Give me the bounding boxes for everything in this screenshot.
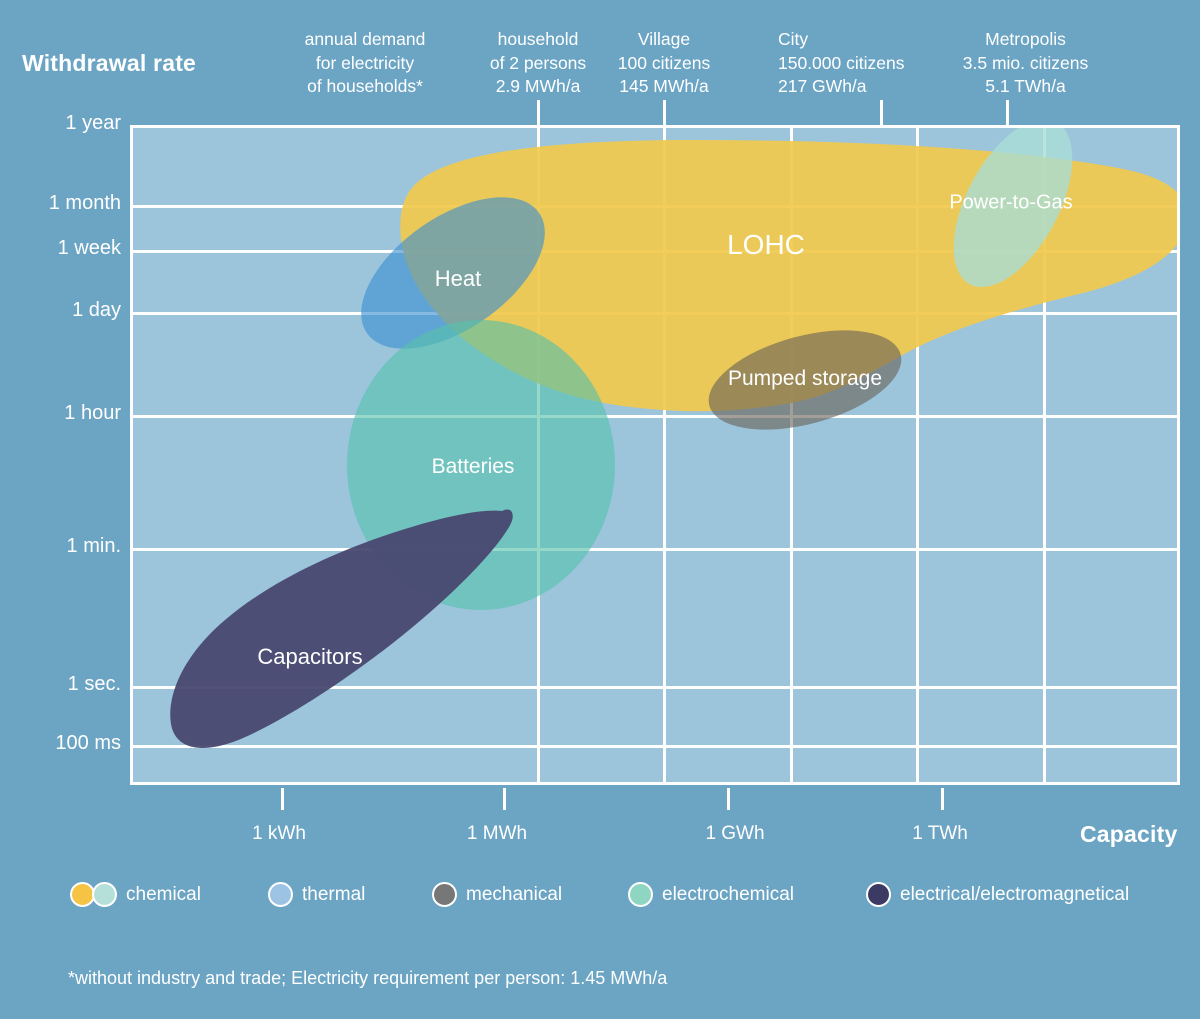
bottom-tick-2 bbox=[727, 788, 730, 810]
legend-label-electrochemical: electrochemical bbox=[662, 884, 794, 906]
demand-header-city: City 150.000 citizens 217 GWh/a bbox=[778, 28, 923, 99]
region-capacitors-shape[interactable] bbox=[170, 509, 512, 748]
legend-swatch-chemical bbox=[70, 882, 117, 907]
legend-label-mechanical: mechanical bbox=[466, 884, 562, 906]
legend-item-electrochemical[interactable]: electrochemical bbox=[628, 882, 794, 907]
chart-root: Withdrawal rate Capacity annual demand f… bbox=[0, 0, 1200, 1019]
demand-header-metropolis: Metropolis 3.5 mio. citizens 5.1 TWh/a bbox=[953, 28, 1098, 99]
x-tick-label-1: 1 MWh bbox=[467, 823, 527, 845]
legend-swatch-electrochemical bbox=[628, 882, 653, 907]
x-tick-label-0: 1 kWh bbox=[252, 823, 306, 845]
legend-item-chemical[interactable]: chemical bbox=[70, 882, 201, 907]
legend-swatch-electrical bbox=[866, 882, 891, 907]
legend: chemicalthermalmechanicalelectrochemical… bbox=[0, 882, 1200, 926]
legend-label-thermal: thermal bbox=[302, 884, 365, 906]
legend-label-electrical: electrical/electromagnetical bbox=[900, 884, 1129, 906]
top-tick-3 bbox=[1006, 100, 1009, 125]
legend-dot-chemical-1 bbox=[92, 882, 117, 907]
demand-header-village: Village 100 citizens 145 MWh/a bbox=[608, 28, 720, 99]
y-tick-label-3: 1 day bbox=[72, 299, 121, 322]
y-tick-label-6: 1 sec. bbox=[68, 673, 121, 696]
top-tick-0 bbox=[537, 100, 540, 125]
legend-item-mechanical[interactable]: mechanical bbox=[432, 882, 562, 907]
x-tick-label-3: 1 TWh bbox=[912, 823, 968, 845]
legend-dot-mechanical-0 bbox=[432, 882, 457, 907]
legend-dot-thermal-0 bbox=[268, 882, 293, 907]
legend-swatch-mechanical bbox=[432, 882, 457, 907]
bottom-tick-3 bbox=[941, 788, 944, 810]
bottom-tick-1 bbox=[503, 788, 506, 810]
demand-header-household-2-persons: household of 2 persons 2.9 MWh/a bbox=[478, 28, 598, 99]
y-tick-label-1: 1 month bbox=[49, 192, 121, 215]
y-tick-label-5: 1 min. bbox=[67, 535, 121, 558]
y-tick-label-4: 1 hour bbox=[64, 402, 121, 425]
legend-item-thermal[interactable]: thermal bbox=[268, 882, 365, 907]
top-tick-2 bbox=[880, 100, 883, 125]
plot-area: LOHCPower-to-GasHeatPumped storageBatter… bbox=[130, 125, 1180, 785]
bottom-tick-0 bbox=[281, 788, 284, 810]
legend-dot-electrochemical-0 bbox=[628, 882, 653, 907]
y-tick-label-0: 1 year bbox=[65, 112, 121, 135]
x-axis-title: Capacity bbox=[1080, 821, 1177, 848]
y-axis-title: Withdrawal rate bbox=[22, 50, 196, 77]
top-tick-1 bbox=[663, 100, 666, 125]
y-tick-label-7: 100 ms bbox=[55, 732, 121, 755]
legend-dot-electrical-0 bbox=[866, 882, 891, 907]
legend-label-chemical: chemical bbox=[126, 884, 201, 906]
legend-item-electrical[interactable]: electrical/electromagnetical bbox=[866, 882, 1129, 907]
demand-header-annual-demand-households: annual demand for electricity of househo… bbox=[290, 28, 440, 99]
footnote: *without industry and trade; Electricity… bbox=[68, 968, 667, 989]
region-shapes bbox=[133, 128, 1177, 782]
x-tick-label-2: 1 GWh bbox=[705, 823, 764, 845]
y-tick-label-2: 1 week bbox=[58, 237, 121, 260]
legend-swatch-thermal bbox=[268, 882, 293, 907]
